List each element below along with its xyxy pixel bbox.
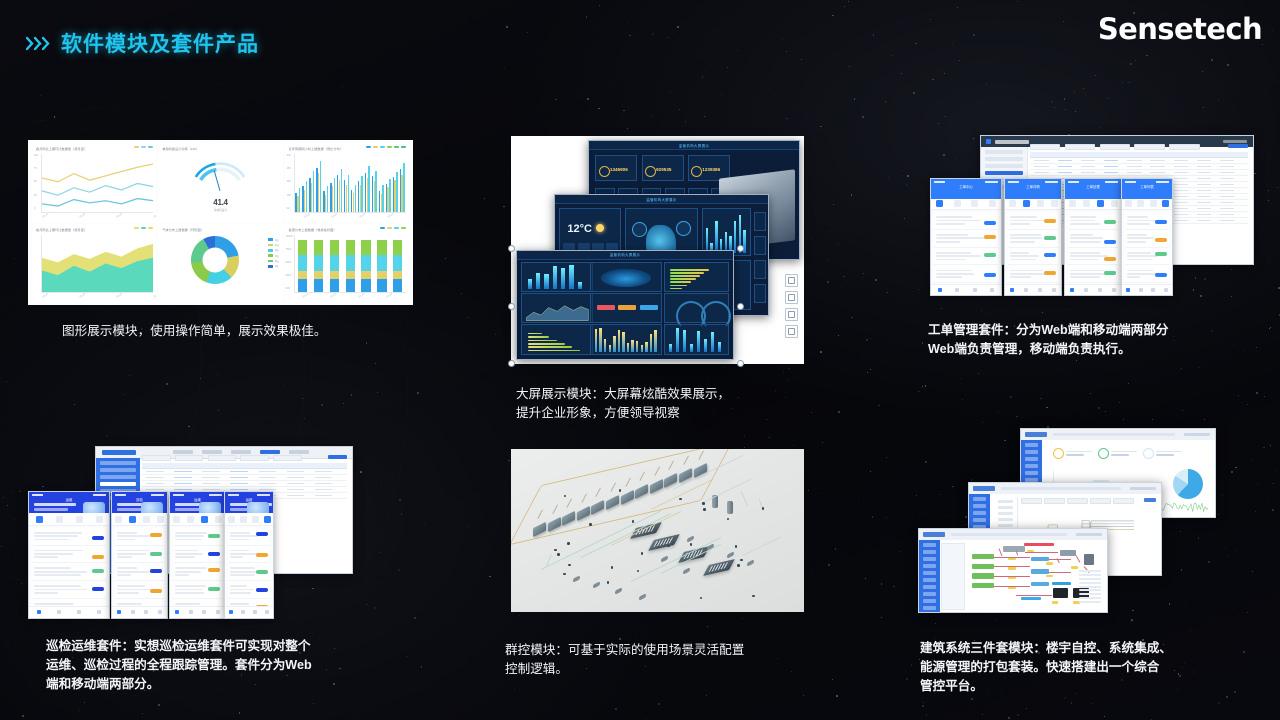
phone-tab-1[interactable] [1079,199,1093,209]
filter-field-3[interactable] [1134,144,1164,150]
bas-sidebar[interactable] [919,540,940,612]
sidebar-item-1[interactable] [100,468,136,472]
earth-map-icon [601,269,651,287]
list-item[interactable] [1125,212,1169,230]
item-detail [230,589,254,591]
screenshot-isometric-plant[interactable] [511,449,804,612]
list-item[interactable] [1125,265,1169,283]
chart-bar-segment [346,255,355,271]
toolbar-field-0[interactable] [1021,498,1042,504]
side-button[interactable] [754,284,766,303]
sidebar-item-3[interactable] [973,518,986,522]
sidebar-item-4[interactable] [1025,471,1038,475]
phone-tab-0[interactable] [225,513,237,524]
axis-tick-label: 02-01 [42,293,49,299]
big-screen-window-3[interactable]: 监管机构大屏展示 [516,250,734,360]
selection-handle[interactable] [508,303,515,310]
list-item[interactable] [1008,265,1058,283]
nav-item-1[interactable] [237,607,249,618]
phone-screen-1[interactable]: 运维 [28,491,110,619]
nav-item-3[interactable] [1107,285,1121,295]
nav-item-2[interactable] [198,607,212,618]
toolbar[interactable] [1021,498,1156,504]
sidebar-item-7[interactable] [923,592,936,596]
crop-icon[interactable] [785,274,798,287]
phone-title: 工单详情 [1026,184,1040,189]
phone-tab-0[interactable] [1005,199,1019,209]
table-cell [287,471,304,473]
resize-icon[interactable] [785,308,798,321]
item-detail [1127,255,1158,257]
item-detail [230,535,258,537]
nav-icon [229,610,233,614]
status-badge[interactable] [208,552,220,556]
table-cell [1127,172,1141,174]
list-item[interactable] [173,581,222,599]
status-badge[interactable] [1044,253,1056,257]
list-item[interactable] [1068,248,1118,266]
phone-screen-2[interactable]: 工单详情 [1004,178,1062,296]
phone-tab-0[interactable] [29,513,49,524]
nav-item-0[interactable] [112,607,126,618]
phone-screen-3[interactable]: 工单处理 [1064,178,1122,296]
status-badge[interactable] [150,533,162,537]
list-item[interactable] [1008,230,1058,248]
filter-field-4[interactable] [273,455,302,461]
list-item[interactable] [934,265,998,283]
chart-bar [578,282,582,289]
phone-bottom-nav[interactable] [29,606,109,618]
phone-tab-0[interactable] [170,513,184,524]
bg-dot [1074,92,1075,93]
sidebar-item-1[interactable] [985,157,1023,161]
status-badge[interactable] [984,273,996,277]
nav-item-0[interactable] [931,285,949,295]
phone-bottom-nav[interactable] [170,606,225,618]
nav-item-2[interactable] [966,285,984,295]
phone-bottom-nav[interactable] [112,606,167,618]
phone-bottom-nav[interactable] [1065,284,1121,295]
nav-item-1[interactable] [1079,285,1093,295]
toolbar-field-3[interactable] [1090,498,1111,504]
phone-header: 运维 [170,492,225,513]
nav-item-2[interactable] [140,607,154,618]
status-badge[interactable] [256,553,268,557]
status-badge[interactable] [256,532,268,536]
list-item[interactable] [228,581,270,599]
phone-tab-0[interactable] [1065,199,1079,209]
status-badge[interactable] [1044,219,1056,223]
item-title [175,532,207,534]
chart-bar [618,330,620,352]
phone-tab-3[interactable] [1160,199,1173,209]
phone-tab-2[interactable] [1147,199,1160,209]
dash-panel-6 [521,324,592,354]
sidebar-item-1[interactable] [1025,450,1038,454]
sidebar-item-0[interactable] [923,543,936,547]
kpi-value: 1346906 [610,167,628,172]
list-item[interactable] [1068,212,1118,230]
chart-bar [544,274,548,290]
search-button[interactable] [328,455,346,459]
selection-handle[interactable] [737,360,744,367]
sidebar-item-2[interactable] [1025,457,1038,461]
pump-7 [747,559,754,566]
tree-item-4[interactable] [998,524,1014,527]
status-badge[interactable] [256,588,268,592]
status-badge[interactable] [1104,220,1116,224]
status-badge[interactable] [150,589,162,593]
filter-field-0[interactable] [142,455,171,461]
nav-icon [1052,288,1056,292]
nav-item-2[interactable] [1033,285,1047,295]
sidebar-item-0[interactable] [973,497,986,501]
filter-field-1[interactable] [1065,144,1095,150]
status-badge[interactable] [1104,271,1116,275]
sidebar-item-0[interactable] [985,150,1023,154]
valve-node-0 [607,581,610,584]
phone-tab-0[interactable] [931,199,949,209]
bas-window-3[interactable] [918,528,1108,613]
phone-tab-3[interactable] [1047,199,1061,209]
sidebar-item-8[interactable] [923,599,936,603]
list-item[interactable] [1125,230,1169,248]
bg-dot [1269,328,1270,329]
list-item[interactable] [1068,265,1118,283]
item-detail [1127,237,1154,239]
list-item[interactable] [1008,248,1058,266]
phone-tab-1[interactable] [949,199,967,209]
window-controls[interactable] [1184,433,1210,436]
nav-item-3[interactable] [89,607,109,618]
phone-screen-2[interactable]: 巡检 [111,491,168,619]
phone-tab-1[interactable] [1135,199,1148,209]
tree-item-0[interactable] [998,500,1014,503]
list-item[interactable] [32,528,106,546]
query-button[interactable] [1144,498,1156,502]
sidebar-item-3[interactable] [985,171,1023,175]
list-item[interactable] [228,528,270,546]
list-item[interactable] [115,546,164,564]
nav-icon [77,610,81,614]
phone-bottom-nav[interactable] [1005,284,1061,295]
list-item[interactable] [173,563,222,581]
screenshot-work-order-stack[interactable]: 工单中心工单详情工单处理工单列表 [925,128,1255,310]
tree-item-1[interactable] [998,506,1014,509]
nav-item-1[interactable] [126,607,140,618]
phone-content [225,525,273,607]
status-badge[interactable] [208,534,220,538]
phone-tab-0[interactable] [112,513,126,524]
table-cell [1104,160,1118,162]
scada-canvas[interactable] [966,541,1103,610]
nav-item-0[interactable] [225,607,237,618]
status-badge[interactable] [984,235,996,239]
screenshot-bi-dashboard[interactable]: 各月同比上期环比数据量（按月度）02-0102-0202-0302-041007… [28,140,413,305]
status-badge[interactable] [1155,220,1167,224]
status-time [228,494,239,497]
nav-item-0[interactable] [170,607,184,618]
status-badge[interactable] [92,569,104,573]
item-detail [34,535,78,537]
nav-item-3[interactable] [261,607,273,618]
nav-item-0[interactable] [29,607,49,618]
status-badge[interactable] [1104,240,1116,244]
table-cell [1058,166,1072,168]
chart-bar [645,342,647,352]
card-big-screen-module[interactable]: 监管机构大屏展示13469069295351239386监管机构大屏展示12°C… [511,136,804,364]
frame-icon[interactable] [785,325,798,338]
nav-item-0[interactable] [1005,285,1019,295]
nav-item-1[interactable] [1135,285,1148,295]
filter-field-4[interactable] [1169,144,1199,150]
scada-block-18 [1046,575,1053,578]
list-item[interactable] [1068,230,1118,248]
sidebar-item-2[interactable] [973,511,986,515]
sidebar-item-4[interactable] [923,571,936,575]
bg-dot [1095,75,1096,76]
status-badge[interactable] [150,552,162,556]
sidebar-item-6[interactable] [923,585,936,589]
nav-item-2[interactable] [1147,285,1160,295]
status-badge[interactable] [92,587,104,591]
item-title [34,550,83,552]
screenshot-big-screen-stack[interactable]: 监管机构大屏展示13469069295351239386监管机构大屏展示12°C… [511,136,804,364]
phone-bottom-nav[interactable] [225,606,273,618]
phone-screen-1[interactable]: 工单中心 [930,178,1002,296]
status-badge[interactable] [1044,271,1056,275]
bg-dot [862,116,864,118]
phone-tab-3[interactable] [1107,199,1121,209]
phone-tab-0[interactable] [1122,199,1135,209]
status-badge[interactable] [256,570,268,574]
table-cell [1104,166,1118,168]
nav-item-3[interactable] [1160,285,1173,295]
window-title [1053,433,1175,436]
list-item[interactable] [173,528,222,546]
item-title [175,585,206,587]
bg-dot [1119,402,1120,403]
caption-group-control-module: 群控模块：可基于实际的使用场景灵活配置 控制逻辑。 [505,641,825,679]
phone-tab-2[interactable] [1033,199,1047,209]
status-badge[interactable] [1155,252,1167,256]
axis-tick-label: 02-02 [79,212,86,218]
card-work-order-suite[interactable]: 工单中心工单详情工单处理工单列表 [925,128,1255,310]
chart-bar-segment [377,255,386,271]
valve-node-1 [557,553,560,556]
filter-bar[interactable] [1030,143,1248,149]
filter-field-1[interactable] [175,455,204,461]
item-detail [34,539,69,541]
status-badge[interactable] [1104,257,1116,261]
status-badge[interactable] [1044,236,1056,240]
phone-screen-4[interactable]: 运维 [224,491,274,619]
phone-tab-3[interactable] [261,513,273,524]
phone-tab-3[interactable] [89,513,109,524]
list-item[interactable] [1008,212,1058,230]
sidebar-item-9[interactable] [923,606,936,610]
phone-bottom-nav[interactable] [931,284,1001,295]
bg-dot [1257,483,1258,484]
nav-item-1[interactable] [49,607,69,618]
list-item[interactable] [1125,248,1169,266]
phone-header: 工单详情 [1005,179,1061,199]
filter-field-3[interactable] [240,455,269,461]
phone-tab-1[interactable] [1019,199,1033,209]
list-item[interactable] [115,581,164,599]
item-title [936,216,972,218]
phone-tab-2[interactable] [1093,199,1107,209]
item-title [117,603,142,605]
phone-tab-3[interactable] [153,513,167,524]
card-building-system-suite[interactable] [908,420,1223,620]
phone-header: 工单中心 [931,179,1001,199]
sidebar-item-2[interactable] [985,164,1023,168]
scada-pipe-3 [994,586,1030,587]
toolbar-field-1[interactable] [1044,498,1065,504]
status-badge[interactable] [92,536,104,540]
phone-tab-1[interactable] [184,513,198,524]
sidebar-item-5[interactable] [923,578,936,582]
list-item[interactable] [228,546,270,564]
axis-value: 00 [287,207,290,210]
status-badge[interactable] [208,587,220,591]
phone-content [1005,209,1061,284]
filter-field-2[interactable] [208,455,237,461]
list-item[interactable] [228,563,270,581]
status-badge[interactable] [984,221,996,225]
phone-content [1065,209,1121,284]
status-badge[interactable] [208,568,220,572]
tree-item-2[interactable] [998,512,1014,515]
nav-item-0[interactable] [1065,285,1079,295]
filter-bar[interactable] [142,454,347,460]
phone-tab-1[interactable] [49,513,69,524]
phone-tab-1[interactable] [237,513,249,524]
list-item[interactable] [32,563,106,581]
nav-item-1[interactable] [949,285,967,295]
nav-item-3[interactable] [984,285,1002,295]
valve-node-2 [667,545,670,548]
zoom-icon[interactable] [785,291,798,304]
sidebar-item-1[interactable] [973,504,986,508]
bas-content [940,540,1107,612]
table-cell [1197,220,1211,222]
page-title: 软件模块及套件产品 [61,28,259,58]
nav-item-1[interactable] [1019,285,1033,295]
status-badge[interactable] [150,569,162,573]
phone-tab-2[interactable] [69,513,89,524]
nav-item-2[interactable] [249,607,261,618]
card-inspection-suite[interactable]: 运维巡检运维运维 [25,443,355,625]
item-title [1070,270,1104,272]
dash-panel-4 [590,293,661,323]
sidebar-item-3[interactable] [100,482,136,486]
sidebar-item-3[interactable] [923,564,936,568]
selection-handle[interactable] [508,245,515,252]
bg-dot [1098,407,1100,409]
list-item[interactable] [934,230,998,248]
side-button[interactable] [754,212,766,231]
sidebar-item-2[interactable] [923,557,936,561]
valve-node-10 [727,518,730,521]
nav-item-3[interactable] [211,607,225,618]
nav-item-3[interactable] [1047,285,1061,295]
nav-item-2[interactable] [1093,285,1107,295]
nav-item-1[interactable] [184,607,198,618]
card-group-control-module[interactable] [511,449,804,612]
list-item[interactable] [115,528,164,546]
search-button[interactable] [1228,144,1248,148]
item-detail [1070,237,1103,239]
nav-item-0[interactable] [1122,285,1135,295]
phone-tab-2[interactable] [140,513,154,524]
list-item[interactable] [173,546,222,564]
device-tree[interactable] [941,543,965,610]
sidebar-item-3[interactable] [1025,464,1038,468]
list-item[interactable] [934,212,998,230]
list-item[interactable] [32,581,106,599]
pipe-segment-11 [631,537,721,582]
tag-chip [618,305,636,310]
screenshot-bas-stack[interactable] [908,420,1223,620]
sidebar-item-0[interactable] [1025,443,1038,447]
tree-item-3[interactable] [998,518,1014,521]
phone-bottom-nav[interactable] [1122,284,1172,295]
phone-screen-4[interactable]: 工单列表 [1121,178,1173,296]
sidebar-item-0[interactable] [100,461,136,465]
nav-item-2[interactable] [69,607,89,618]
table-cell [230,471,247,473]
tab-icon [240,516,247,523]
item-detail [117,556,132,558]
nav-icon [1151,288,1155,292]
sidebar-item-2[interactable] [100,475,136,479]
side-button[interactable] [754,260,766,279]
phone-screen-3[interactable]: 运维 [169,491,226,619]
selection-handle[interactable] [508,360,515,367]
status-badge[interactable] [984,253,996,257]
selection-handle[interactable] [737,303,744,310]
sidebar-item-1[interactable] [923,550,936,554]
window-controls[interactable] [1130,487,1156,490]
nav-item-3[interactable] [153,607,167,618]
toolbar-field-4[interactable] [1113,498,1134,504]
filter-field-0[interactable] [1030,144,1060,150]
list-item[interactable] [934,248,998,266]
filter-field-2[interactable] [1100,144,1130,150]
item-detail [936,223,965,225]
tab-icon [56,516,63,523]
phone-tab-3[interactable] [211,513,225,524]
status-badge[interactable] [92,555,104,559]
status-badge[interactable] [1155,273,1167,277]
screenshot-inspection-stack[interactable]: 运维巡检运维运维 [25,443,355,625]
item-detail [936,237,985,239]
toolbar-field-2[interactable] [1067,498,1088,504]
list-item[interactable] [32,546,106,564]
side-button[interactable] [754,236,766,255]
phone-tab-2[interactable] [966,199,984,209]
phone-tab-2[interactable] [249,513,261,524]
window-controls[interactable] [1076,533,1102,536]
status-badge[interactable] [1155,238,1167,242]
h-bar [670,269,709,271]
phone-tab-2[interactable] [198,513,212,524]
phone-tab-1[interactable] [126,513,140,524]
phone-tab-3[interactable] [984,199,1002,209]
list-item[interactable] [115,563,164,581]
